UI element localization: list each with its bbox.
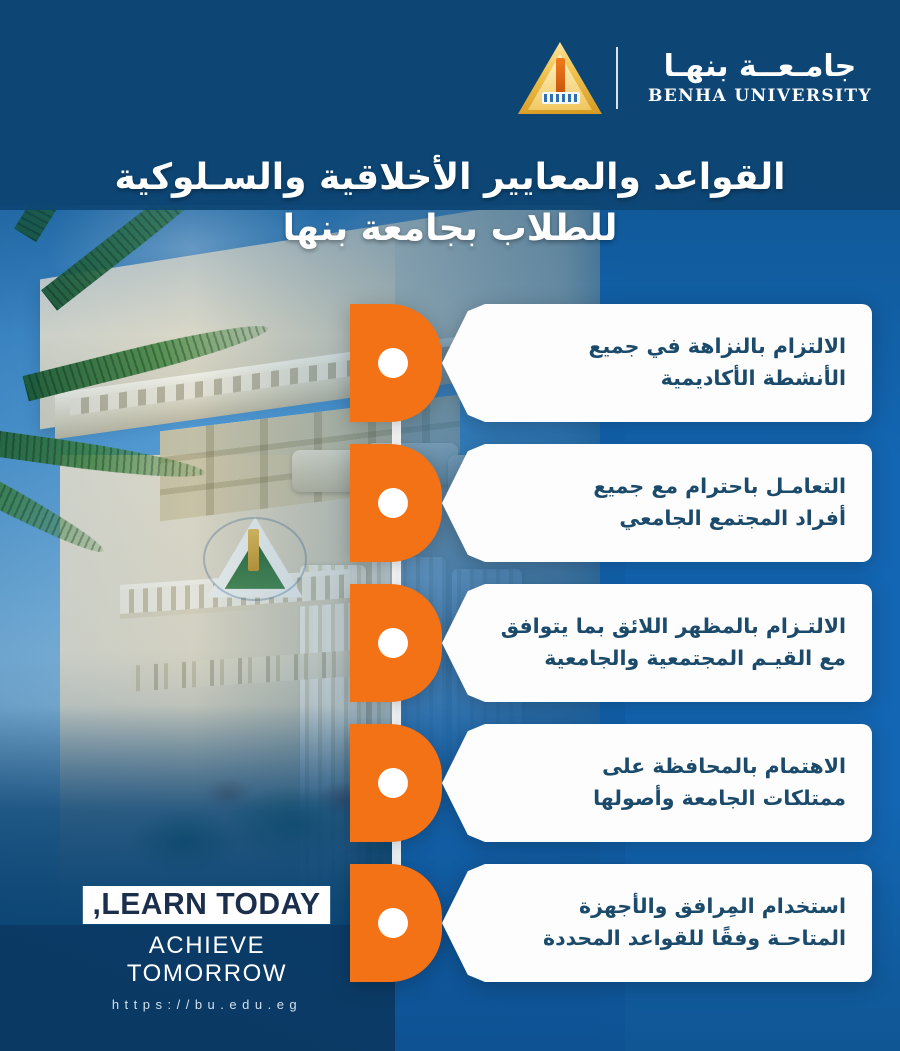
rule-card-body: استخدام المِرافق والأجهزة المتاحـة وفقًا… <box>442 864 872 982</box>
crest-obelisk-icon <box>556 58 565 94</box>
benha-university-crest-icon <box>518 42 602 114</box>
tagline-line-2: ACHIEVE TOMORROW <box>78 932 336 988</box>
rule-card-marker <box>350 444 442 562</box>
bullet-dot-icon <box>378 628 408 658</box>
rule-card[interactable]: التعامـل باحترام مع جميع أفراد المجتمع ا… <box>352 444 872 562</box>
rules-card-list: الالتزام بالنزاهة في جميع الأنشطة الأكاد… <box>352 304 872 1004</box>
rule-card-text: الالتزام بالنزاهة في جميع الأنشطة الأكاد… <box>482 331 846 395</box>
rule-card-text: الالتـزام بالمظهر اللائق بما يتوافق مع ا… <box>482 611 846 675</box>
page-title: القواعد والمعايير الأخلاقية والسـلوكية ل… <box>0 152 900 254</box>
rule-card-marker <box>350 304 442 422</box>
bullet-dot-icon <box>378 488 408 518</box>
rule-card-body: الاهتمام بالمحافظة على ممتلكات الجامعة و… <box>442 724 872 842</box>
rule-card-marker <box>350 864 442 982</box>
rule-card-marker <box>350 724 442 842</box>
brand-divider <box>616 47 618 109</box>
rule-card[interactable]: الاهتمام بالمحافظة على ممتلكات الجامعة و… <box>352 724 872 842</box>
bullet-dot-icon <box>378 768 408 798</box>
rule-card-text: الاهتمام بالمحافظة على ممتلكات الجامعة و… <box>482 751 846 815</box>
rule-card[interactable]: استخدام المِرافق والأجهزة المتاحـة وفقًا… <box>352 864 872 982</box>
infographic-poster: جامـعــة بنهـا BENHA UNIVERSITY القواعد … <box>0 0 900 1051</box>
tagline-line-1: LEARN TODAY, <box>83 886 330 924</box>
bullet-dot-icon <box>378 348 408 378</box>
page-title-line-1: القواعد والمعايير الأخلاقية والسـلوكية <box>115 157 786 198</box>
rule-card-marker <box>350 584 442 702</box>
footer-tagline: LEARN TODAY, ACHIEVE TOMORROW https://bu… <box>78 886 336 1012</box>
brand-text-block: جامـعــة بنهـا BENHA UNIVERSITY <box>632 50 872 107</box>
rule-card-body: الالتزام بالنزاهة في جميع الأنشطة الأكاد… <box>442 304 872 422</box>
rule-card[interactable]: الالتـزام بالمظهر اللائق بما يتوافق مع ا… <box>352 584 872 702</box>
rule-card[interactable]: الالتزام بالنزاهة في جميع الأنشطة الأكاد… <box>352 304 872 422</box>
rule-card-text: التعامـل باحترام مع جميع أفراد المجتمع ا… <box>482 471 846 535</box>
rule-card-body: الالتـزام بالمظهر اللائق بما يتوافق مع ا… <box>442 584 872 702</box>
rule-card-body: التعامـل باحترام مع جميع أفراد المجتمع ا… <box>442 444 872 562</box>
brand-name-english: BENHA UNIVERSITY <box>648 86 872 106</box>
brand-lockup: جامـعــة بنهـا BENHA UNIVERSITY <box>518 42 872 114</box>
tagline-line-1-wrap: LEARN TODAY, <box>78 886 336 924</box>
page-title-line-2: للطلاب بجامعة بنها <box>48 203 852 254</box>
brand-name-arabic: جامـعــة بنهـا <box>648 50 872 85</box>
website-url[interactable]: https://bu.edu.eg <box>78 997 336 1012</box>
bullet-dot-icon <box>378 908 408 938</box>
rule-card-text: استخدام المِرافق والأجهزة المتاحـة وفقًا… <box>482 891 846 955</box>
crest-base <box>542 92 580 104</box>
